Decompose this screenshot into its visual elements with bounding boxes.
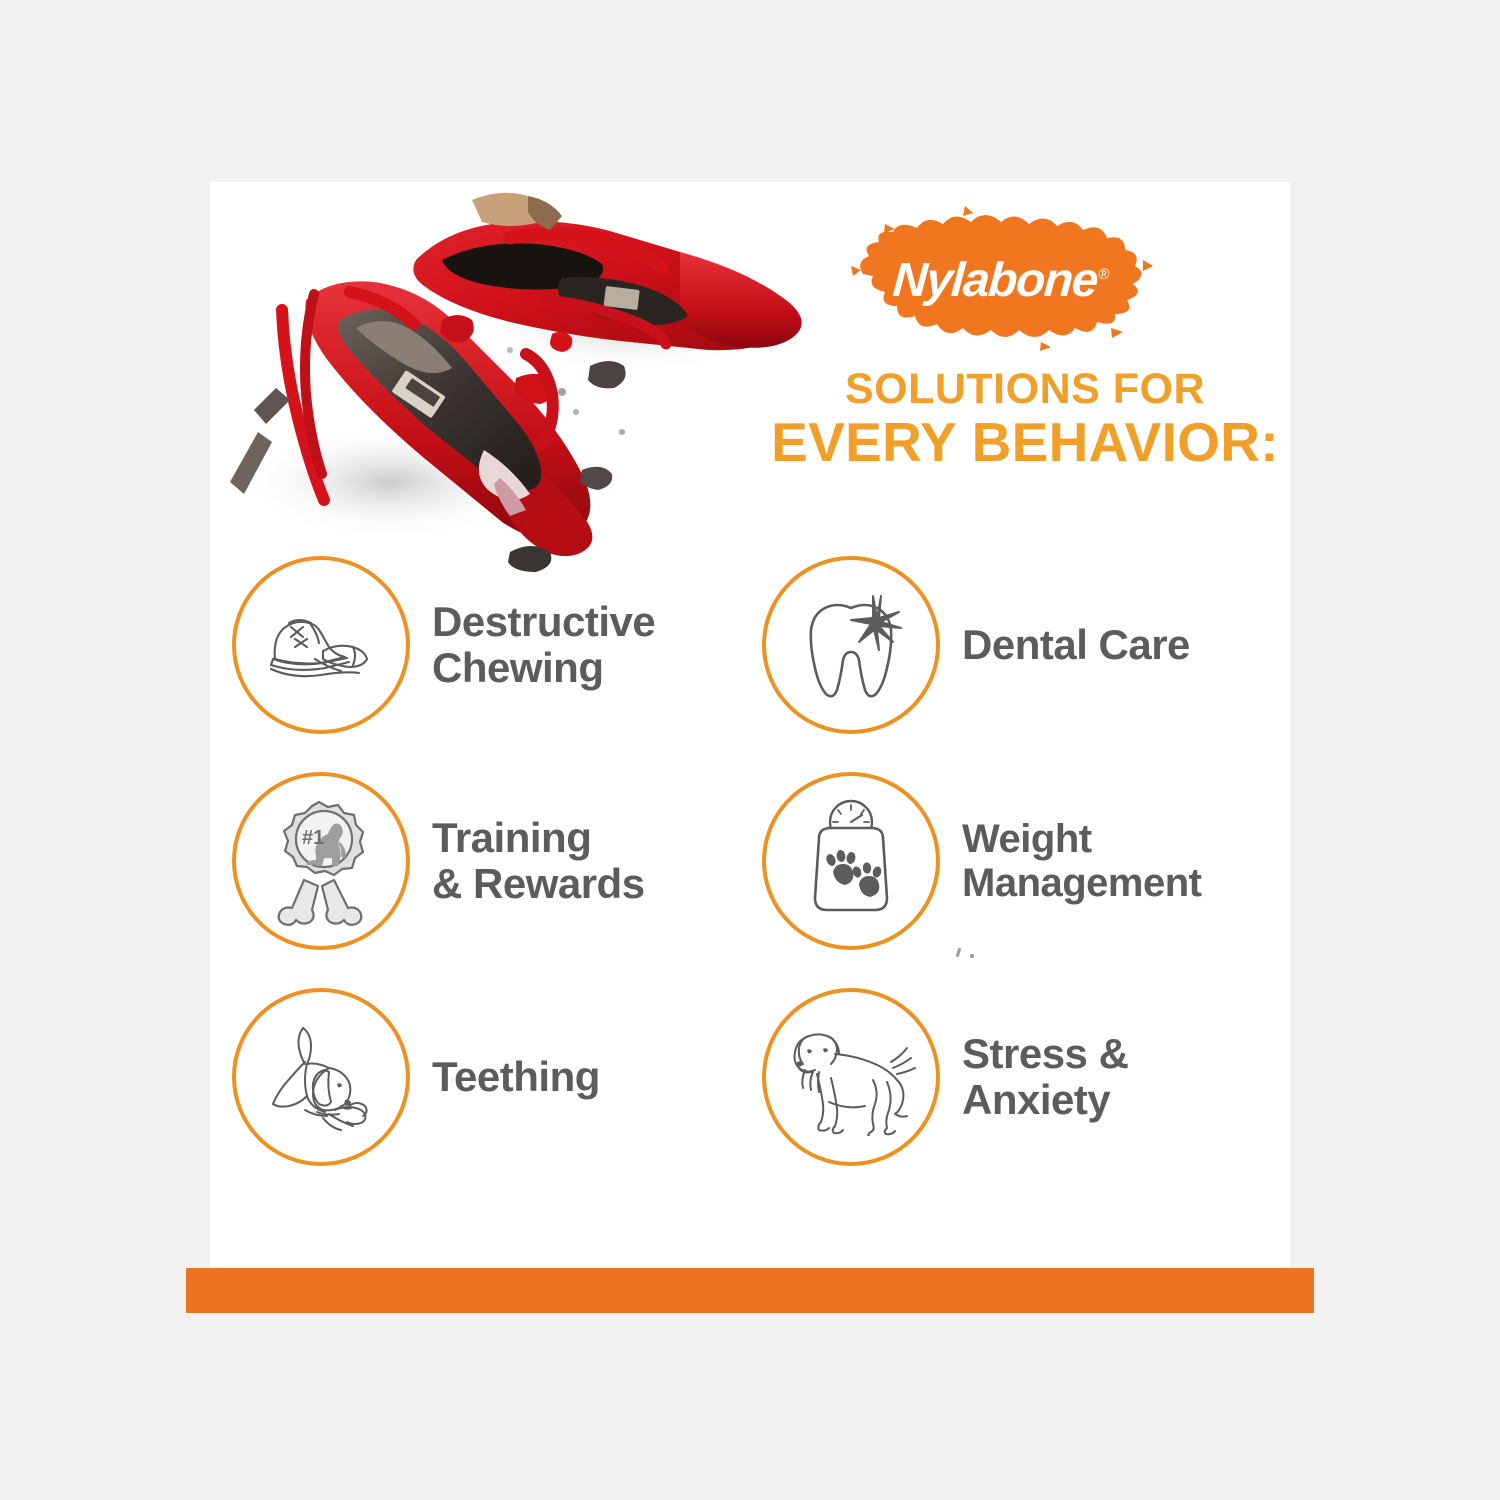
benefit-icon-circle — [232, 556, 410, 734]
benefit-label: Dental Care — [962, 622, 1190, 668]
anxious-dog-icon — [785, 1018, 917, 1136]
headline: SOLUTIONS FOR EVERY BEHAVIOR: — [770, 367, 1280, 471]
nylabone-logo: Nylabone® — [845, 200, 1155, 360]
rosette-rank-text: #1 — [302, 827, 324, 849]
chewed-shoes-photo — [210, 182, 830, 582]
benefit-destructive-chewing[interactable]: Destructive Chewing — [232, 537, 752, 753]
headline-line-2: EVERY BEHAVIOR: — [770, 413, 1280, 471]
footer-accent-bar — [186, 1268, 1314, 1313]
chewed-shoe-icon — [259, 593, 383, 697]
image-artifact-speck — [970, 954, 974, 958]
award-rosette-dog-icon: #1 — [262, 796, 380, 926]
benefit-weight-management[interactable]: Weight Management — [762, 753, 1282, 969]
benefit-dental-care[interactable]: Dental Care — [762, 537, 1282, 753]
benefit-icon-circle — [232, 988, 410, 1166]
benefit-label: Training & Rewards — [432, 815, 645, 907]
benefit-stress-anxiety[interactable]: Stress & Anxiety — [762, 969, 1282, 1185]
product-card: Nylabone® SOLUTIONS FOR EVERY BEHAVIOR: — [210, 182, 1290, 1270]
benefits-grid: Destructive Chewing Dental Care — [232, 537, 1282, 1185]
benefit-training-rewards[interactable]: #1 Training & Rewards — [232, 753, 752, 969]
benefit-label: Destructive Chewing — [432, 599, 655, 691]
benefit-icon-circle — [762, 988, 940, 1166]
headline-line-1: SOLUTIONS FOR — [770, 367, 1280, 413]
benefit-icon-circle: #1 — [232, 772, 410, 950]
benefit-icon-circle — [762, 772, 940, 950]
benefit-label: Stress & Anxiety — [962, 1031, 1128, 1123]
puppy-chewing-toy-icon — [257, 1018, 385, 1136]
paw-scale-icon — [795, 798, 907, 924]
sparkling-tooth-icon — [795, 584, 907, 706]
paint-stroke-badge-icon — [845, 200, 1155, 360]
benefit-icon-circle — [762, 556, 940, 734]
poster-canvas: Nylabone® SOLUTIONS FOR EVERY BEHAVIOR: — [0, 0, 1500, 1500]
benefit-teething[interactable]: Teething — [232, 969, 752, 1185]
benefit-label: Weight Management — [962, 817, 1202, 905]
benefit-label: Teething — [432, 1054, 600, 1100]
